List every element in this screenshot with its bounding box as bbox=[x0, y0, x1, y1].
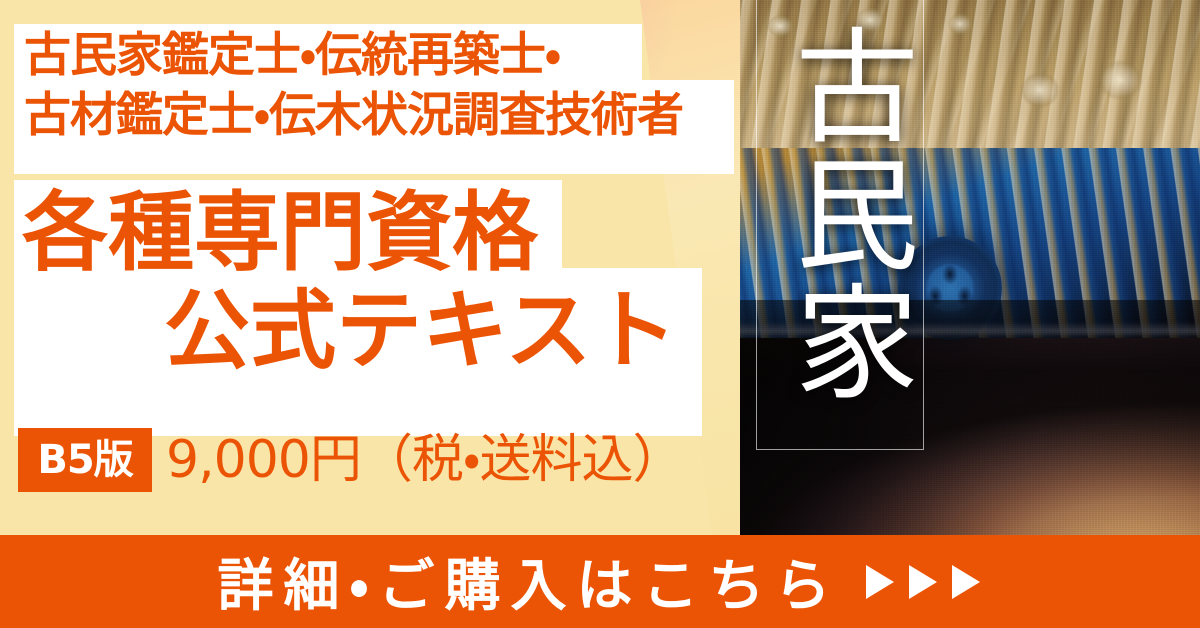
headline-block: 古民家鑑定士・伝統再築士・ 古材鑑定士・伝木状況調査技術者 bbox=[18, 26, 728, 146]
triangle-right-icon bbox=[949, 562, 983, 602]
cta-arrow-group bbox=[863, 562, 983, 602]
title-line-1: 各種専門資格 bbox=[22, 190, 538, 276]
triangle-right-icon bbox=[906, 562, 940, 602]
price-text: 9,000円（税・送料込） bbox=[166, 430, 684, 490]
promo-banner: 古民家 伝統構法、古民家活用のための調査と再生の 古民家鑑定士・伝統再築士・ 古… bbox=[0, 0, 1200, 628]
triangle-right-icon bbox=[863, 562, 897, 602]
title-line-2: 公式テキスト bbox=[164, 288, 677, 374]
cta-bar[interactable]: 詳細・ご購入はこちら bbox=[0, 535, 1200, 628]
cover-title-text: 古民家 bbox=[762, 22, 914, 406]
cta-label: 詳細・ご購入はこちら bbox=[217, 541, 840, 622]
format-badge: B5版 bbox=[18, 428, 152, 492]
headline-line-2: 古材鑑定士・伝木状況調査技術者 bbox=[18, 86, 728, 146]
headline-line-1: 古民家鑑定士・伝統再築士・ bbox=[18, 26, 728, 86]
